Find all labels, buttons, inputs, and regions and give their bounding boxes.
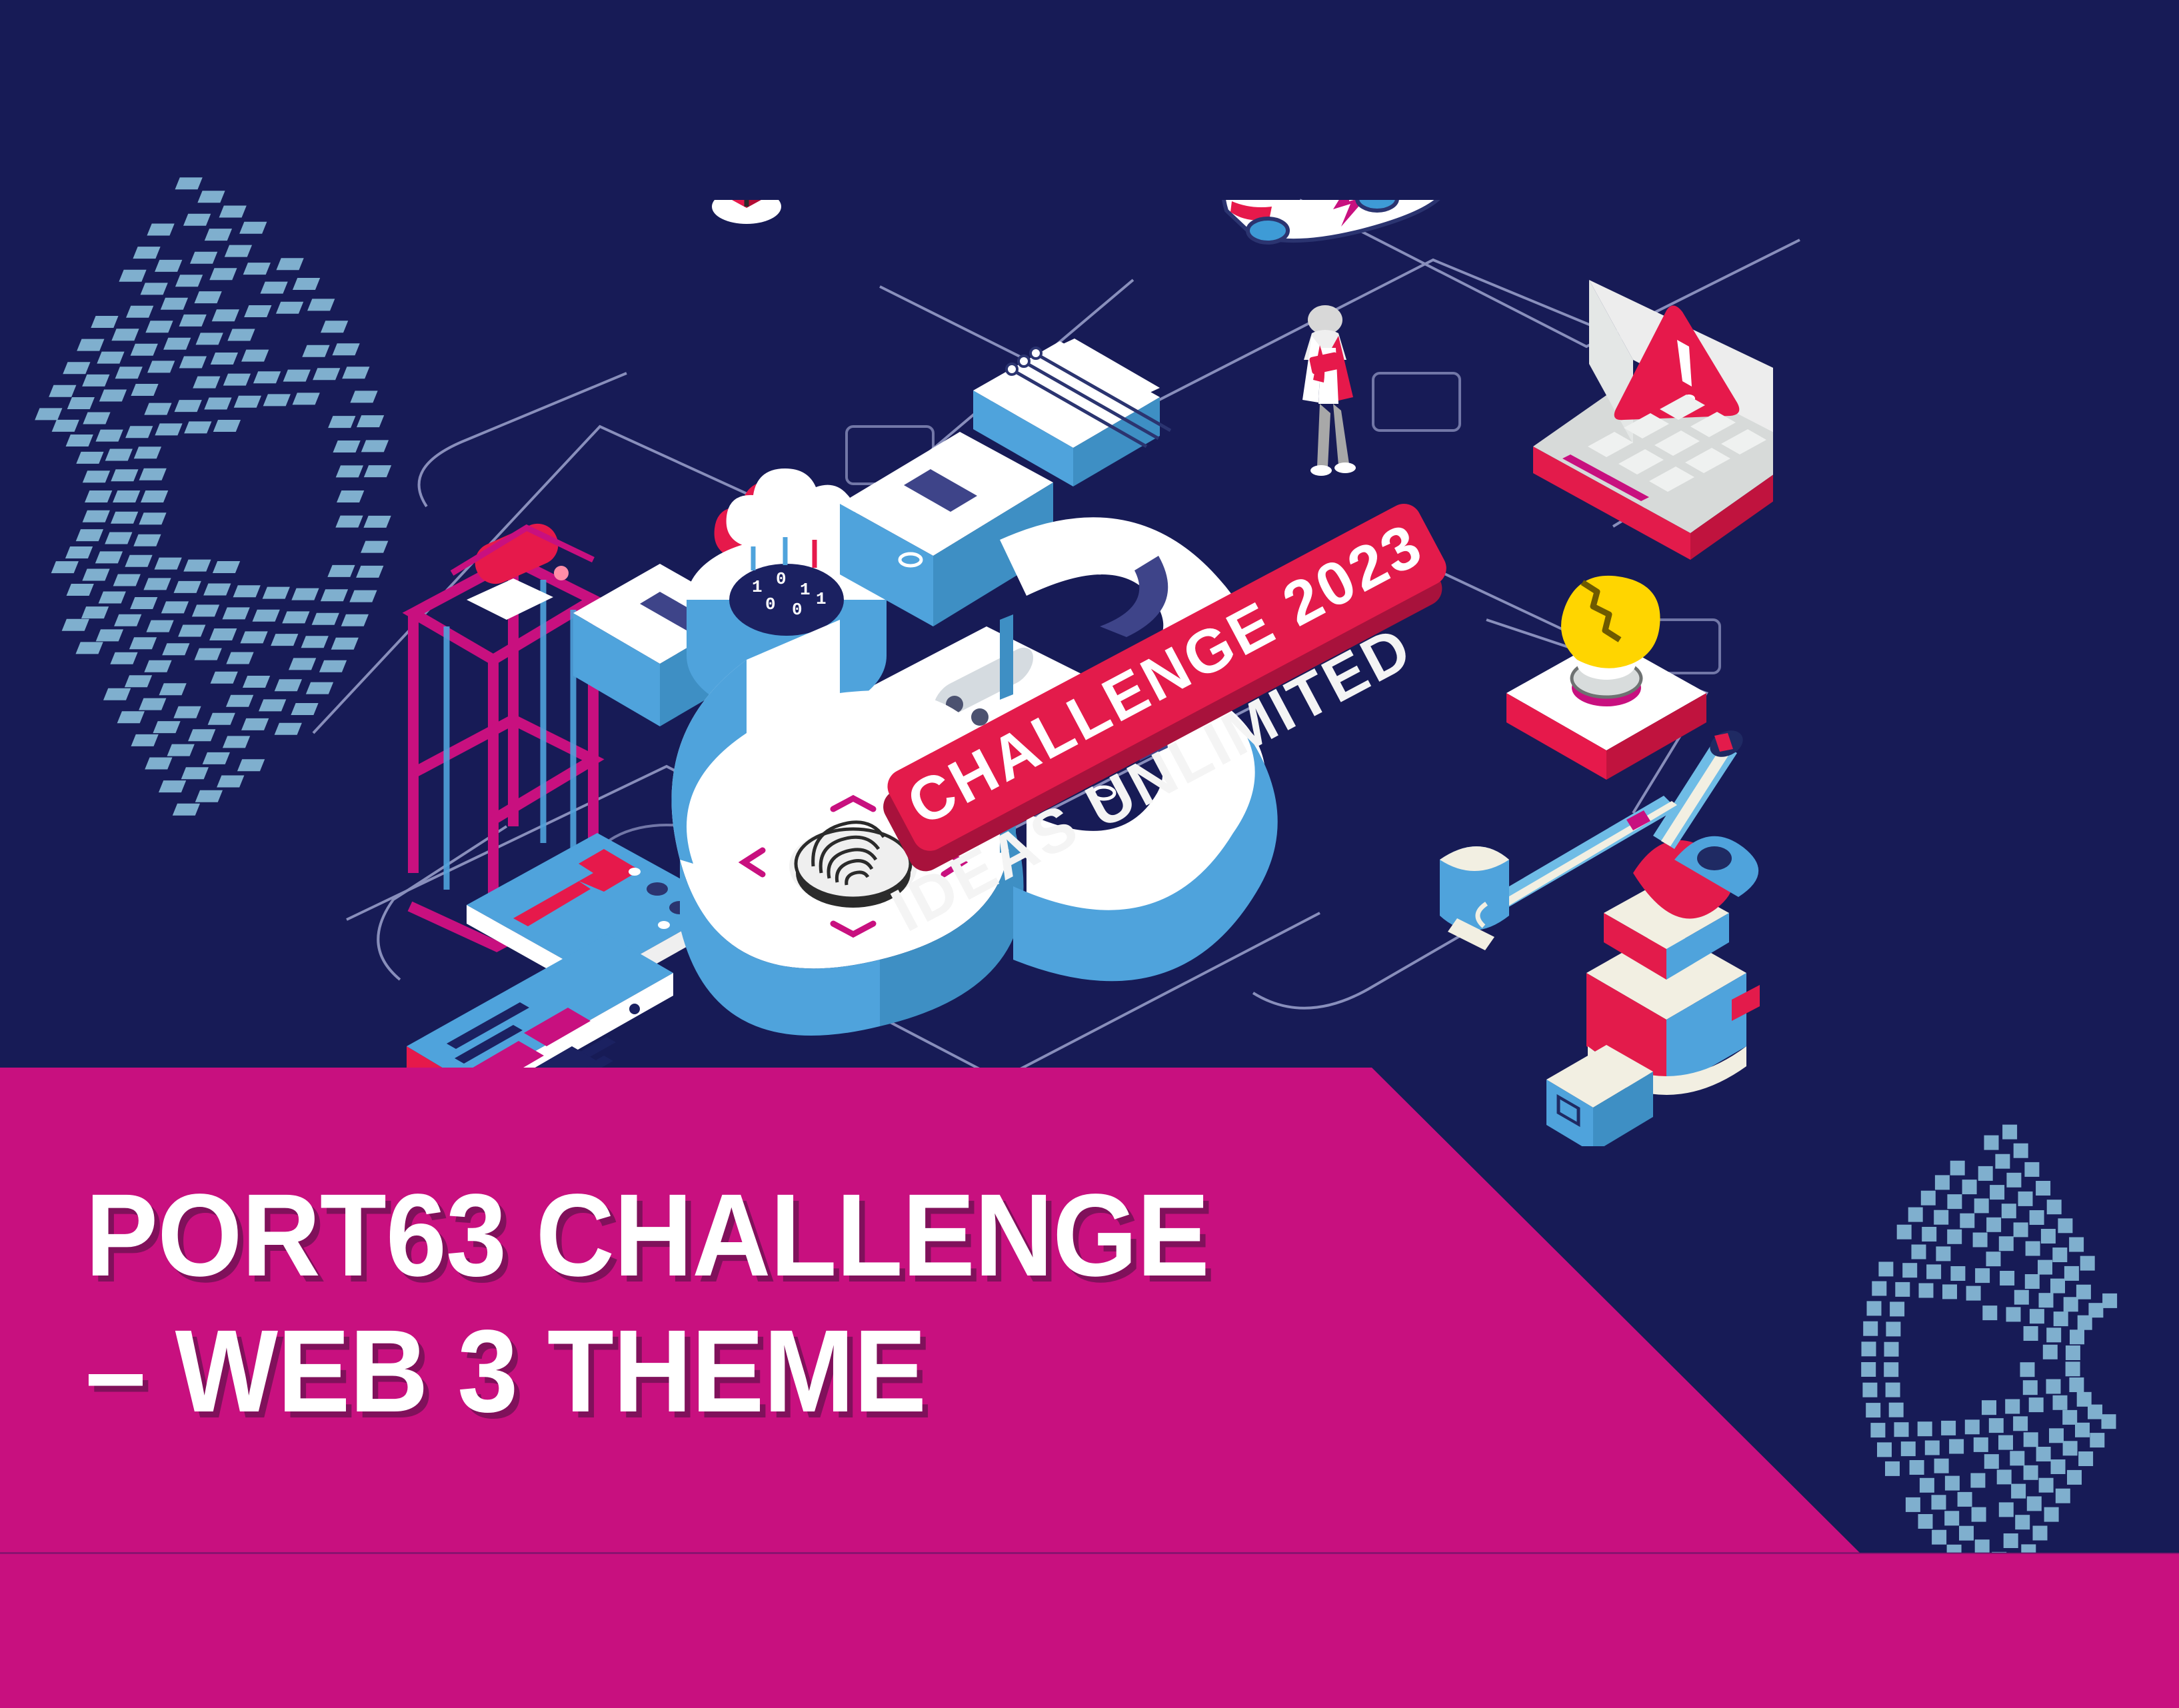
svg-text:0: 0 xyxy=(776,569,787,589)
engineer-person-icon xyxy=(1302,305,1356,476)
dot-burst-bottom-right xyxy=(1832,1095,2179,1628)
band-hairline xyxy=(0,1552,2179,1554)
drone-icon xyxy=(648,200,845,224)
svg-text:0: 0 xyxy=(792,600,803,620)
port63-isometric-logo-artwork: 10 10 01 xyxy=(373,200,1773,1146)
electric-car-icon xyxy=(1223,200,1450,243)
title-line-1: PORT63 CHALLENGE xyxy=(85,1168,1325,1303)
page-title: PORT63 CHALLENGE – WEB 3 THEME xyxy=(85,1168,1418,1439)
slide-canvas: 10 10 01 xyxy=(0,0,2179,1708)
svg-text:0: 0 xyxy=(765,594,776,614)
title-line-2: – WEB 3 THEME xyxy=(85,1303,1325,1439)
lightbulb-icon xyxy=(1506,576,1706,780)
svg-text:1: 1 xyxy=(800,580,811,600)
laptop-warning-icon xyxy=(1533,280,1773,560)
svg-text:1: 1 xyxy=(816,589,827,609)
robot-arm-icon xyxy=(1440,725,1760,1146)
svg-text:1: 1 xyxy=(752,577,763,597)
